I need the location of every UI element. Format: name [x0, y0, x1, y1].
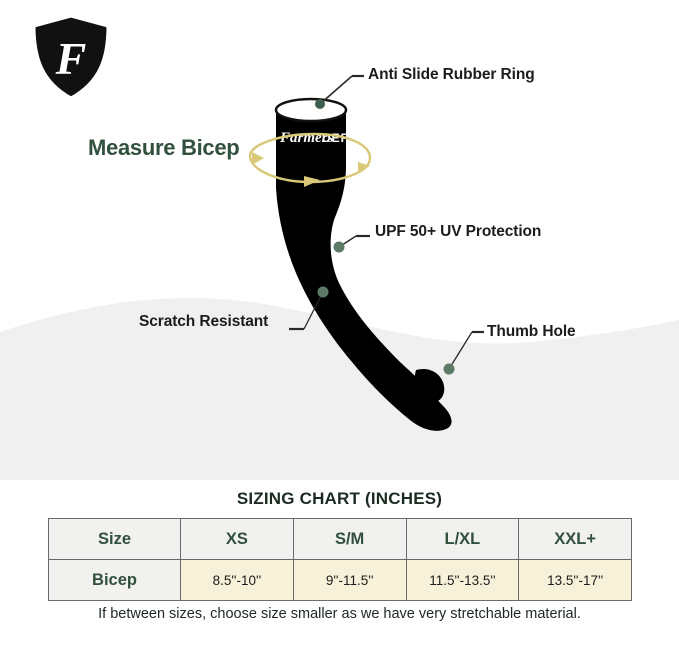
table-cell-bicep-sm: 9''-11.5'' — [293, 560, 406, 601]
table-header-size: Size — [49, 519, 181, 560]
table-header-xs: XS — [181, 519, 294, 560]
table-row-label-bicep: Bicep — [49, 560, 181, 601]
table-row: Bicep 8.5''-10'' 9''-11.5'' 11.5''-13.5'… — [49, 560, 632, 601]
sizing-infographic: F Farmers DEFENSE — [0, 0, 679, 654]
callout-scratch-resistant: Scratch Resistant — [139, 313, 268, 331]
table-cell-bicep-lxl: 11.5''-13.5'' — [406, 560, 519, 601]
table-header-lxl: L/XL — [406, 519, 519, 560]
sleeve-brand-block: DEFENSE — [322, 131, 386, 145]
table-header-sm: S/M — [293, 519, 406, 560]
table-header-row: Size XS S/M L/XL XXL+ — [49, 519, 632, 560]
arm-sleeve-illustration: Farmers DEFENSE — [230, 70, 520, 440]
callout-upf-protection: UPF 50+ UV Protection — [375, 223, 541, 241]
callout-anti-slide-rubber-ring: Anti Slide Rubber Ring — [368, 66, 535, 84]
callout-thumb-hole: Thumb Hole — [487, 323, 576, 341]
logo-letter: F — [55, 33, 87, 84]
sizing-chart-title: SIZING CHART (INCHES) — [0, 489, 679, 509]
table-header-xxl: XXL+ — [519, 519, 632, 560]
sizing-note: If between sizes, choose size smaller as… — [0, 606, 679, 622]
table-cell-bicep-xs: 8.5''-10'' — [181, 560, 294, 601]
sizing-chart-table: Size XS S/M L/XL XXL+ Bicep 8.5''-10'' 9… — [48, 518, 632, 601]
callout-measure-bicep: Measure Bicep — [88, 135, 239, 161]
cuff-opening-ellipse — [276, 99, 346, 121]
table-cell-bicep-xxl: 13.5''-17'' — [519, 560, 632, 601]
shield-logo-icon: F — [28, 14, 114, 100]
